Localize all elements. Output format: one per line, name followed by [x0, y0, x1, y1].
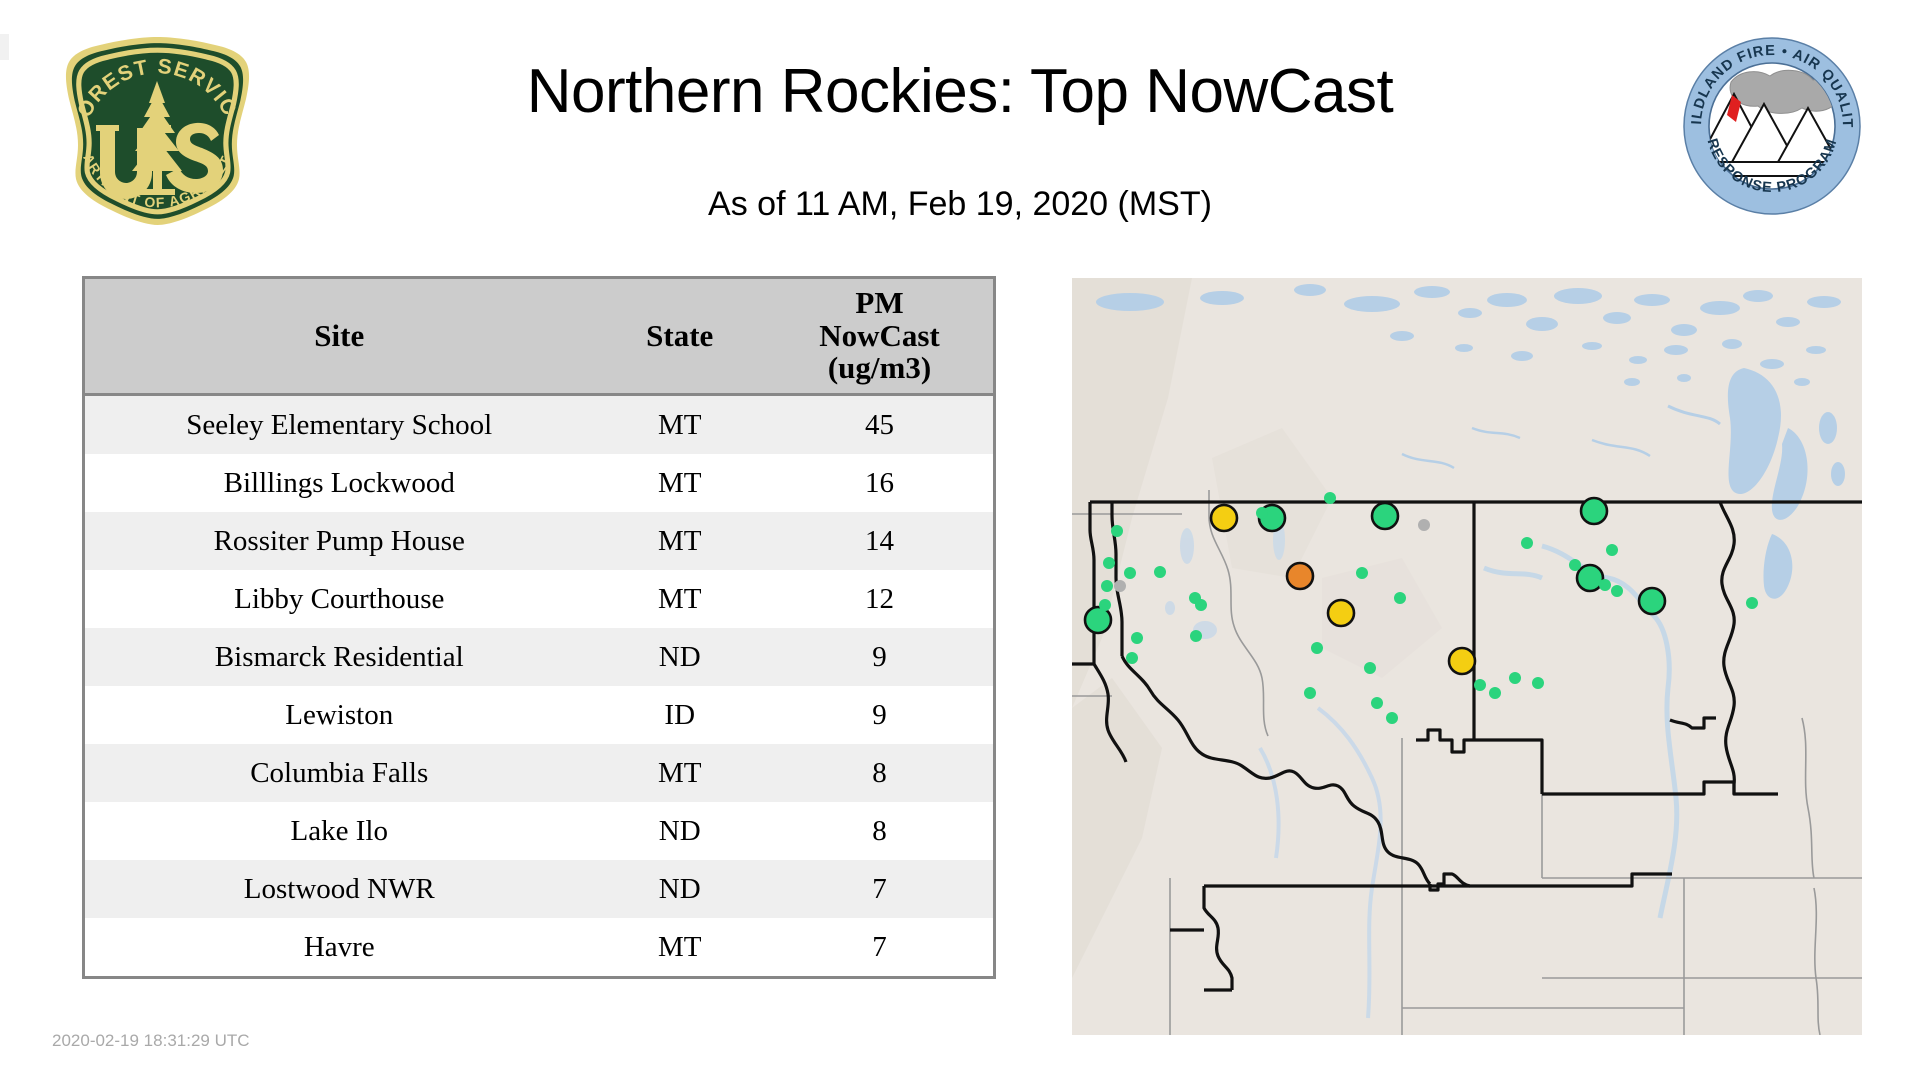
page-title: Northern Rockies: Top NowCast [300, 60, 1620, 124]
site-cell: Columbia Falls [85, 744, 593, 802]
forest-service-shield-icon: FOREST SERVICE DEPARTMENT OF AGRICULTURE [56, 33, 259, 229]
monitor-marker-small[interactable] [1099, 599, 1111, 611]
air-quality-monitor-map[interactable]: Air Quality Index HazardousVery Unhealth… [1072, 278, 1862, 1035]
monitor-marker-large[interactable] [1085, 607, 1111, 633]
state-cell: MT [593, 918, 766, 976]
slide-canvas: FOREST SERVICE DEPARTMENT OF AGRICULTURE [0, 0, 1920, 1080]
site-cell: Billlings Lockwood [85, 454, 593, 512]
monitor-marker-small[interactable] [1324, 492, 1336, 504]
state-cell: ND [593, 860, 766, 918]
monitor-marker-small[interactable] [1101, 580, 1113, 592]
table-row: Rossiter Pump HouseMT14 [85, 512, 993, 570]
pm-header-line-1: PM [766, 287, 993, 320]
monitor-marker-small[interactable] [1190, 630, 1202, 642]
pm-nowcast-cell: 45 [766, 395, 993, 455]
monitor-marker-large[interactable] [1581, 498, 1607, 524]
monitor-marker-large[interactable] [1639, 588, 1665, 614]
monitor-marker-small[interactable] [1364, 662, 1376, 674]
monitor-marker-small[interactable] [1746, 597, 1758, 609]
monitor-marker-large[interactable] [1449, 648, 1475, 674]
monitor-marker-small[interactable] [1386, 712, 1398, 724]
monitor-marker-small[interactable] [1418, 519, 1430, 531]
state-cell: MT [593, 512, 766, 570]
site-cell: Rossiter Pump House [85, 512, 593, 570]
table-row: Libby CourthouseMT12 [85, 570, 993, 628]
monitor-marker-small[interactable] [1371, 697, 1383, 709]
column-header-site: Site [85, 279, 593, 395]
table-header-row: Site State PM NowCast (ug/m3) [85, 279, 993, 395]
state-cell: ID [593, 686, 766, 744]
table-row: Columbia FallsMT8 [85, 744, 993, 802]
monitor-marker-small[interactable] [1474, 679, 1486, 691]
pm-nowcast-cell: 16 [766, 454, 993, 512]
monitor-marker-small[interactable] [1256, 507, 1268, 519]
site-cell: Lewiston [85, 686, 593, 744]
monitor-marker-large[interactable] [1211, 505, 1237, 531]
pm-nowcast-cell: 9 [766, 686, 993, 744]
state-cell: MT [593, 454, 766, 512]
top-nowcast-table: Site State PM NowCast (ug/m3) Seeley Ele… [82, 276, 996, 979]
monitor-marker-small[interactable] [1569, 559, 1581, 571]
monitor-marker-large[interactable] [1328, 600, 1354, 626]
table-row: Lake IloND8 [85, 802, 993, 860]
site-cell: Havre [85, 918, 593, 976]
table-row: Seeley Elementary SchoolMT45 [85, 395, 993, 455]
monitor-marker-small[interactable] [1532, 677, 1544, 689]
table-row: HavreMT7 [85, 918, 993, 976]
monitor-marker-large[interactable] [1287, 563, 1313, 589]
monitor-marker-small[interactable] [1521, 537, 1533, 549]
monitor-marker-small[interactable] [1304, 687, 1316, 699]
state-cell: MT [593, 744, 766, 802]
monitor-marker-small[interactable] [1131, 632, 1143, 644]
state-cell: ND [593, 802, 766, 860]
monitor-marker-small[interactable] [1103, 557, 1115, 569]
monitor-marker-small[interactable] [1124, 567, 1136, 579]
pm-nowcast-cell: 8 [766, 802, 993, 860]
generated-timestamp: 2020-02-19 18:31:29 UTC [52, 1031, 250, 1051]
site-cell: Bismarck Residential [85, 628, 593, 686]
state-cell: MT [593, 395, 766, 455]
monitor-marker-small[interactable] [1599, 579, 1611, 591]
pm-nowcast-cell: 8 [766, 744, 993, 802]
state-cell: ND [593, 628, 766, 686]
monitor-marker-small[interactable] [1126, 652, 1138, 664]
pm-nowcast-cell: 9 [766, 628, 993, 686]
monitor-marker-large[interactable] [1577, 565, 1603, 591]
monitor-marker-large[interactable] [1372, 503, 1398, 529]
column-header-state: State [593, 279, 766, 395]
site-cell: Libby Courthouse [85, 570, 593, 628]
table-row: Billlings LockwoodMT16 [85, 454, 993, 512]
monitor-marker-small[interactable] [1311, 642, 1323, 654]
pm-header-line-3: (ug/m3) [766, 352, 993, 385]
table-row: Lostwood NWRND7 [85, 860, 993, 918]
site-cell: Lake Ilo [85, 802, 593, 860]
monitor-marker-small[interactable] [1356, 567, 1368, 579]
table-row: Bismarck ResidentialND9 [85, 628, 993, 686]
pm-nowcast-cell: 7 [766, 860, 993, 918]
state-cell: MT [593, 570, 766, 628]
wildland-fire-air-quality-response-program-icon: WILDLAND FIRE • AIR QUALITY RESPONSE PRO… [1682, 36, 1862, 216]
monitor-marker-small[interactable] [1111, 525, 1123, 537]
pm-header-line-2: NowCast [766, 320, 993, 353]
monitor-marker-small[interactable] [1509, 672, 1521, 684]
site-cell: Seeley Elementary School [85, 395, 593, 455]
monitor-marker-small[interactable] [1154, 566, 1166, 578]
monitor-marker-small[interactable] [1489, 687, 1501, 699]
table-row: LewistonID9 [85, 686, 993, 744]
monitor-marker-small[interactable] [1394, 592, 1406, 604]
monitor-marker-small[interactable] [1195, 599, 1207, 611]
left-edge-tick [0, 34, 9, 60]
site-cell: Lostwood NWR [85, 860, 593, 918]
monitor-marker-small[interactable] [1606, 544, 1618, 556]
column-header-pm-nowcast: PM NowCast (ug/m3) [766, 279, 993, 395]
monitor-marker-small[interactable] [1611, 585, 1623, 597]
pm-nowcast-cell: 14 [766, 512, 993, 570]
monitor-marker-small[interactable] [1114, 580, 1126, 592]
pm-nowcast-cell: 12 [766, 570, 993, 628]
pm-nowcast-cell: 7 [766, 918, 993, 976]
page-subtitle: As of 11 AM, Feb 19, 2020 (MST) [300, 185, 1620, 224]
